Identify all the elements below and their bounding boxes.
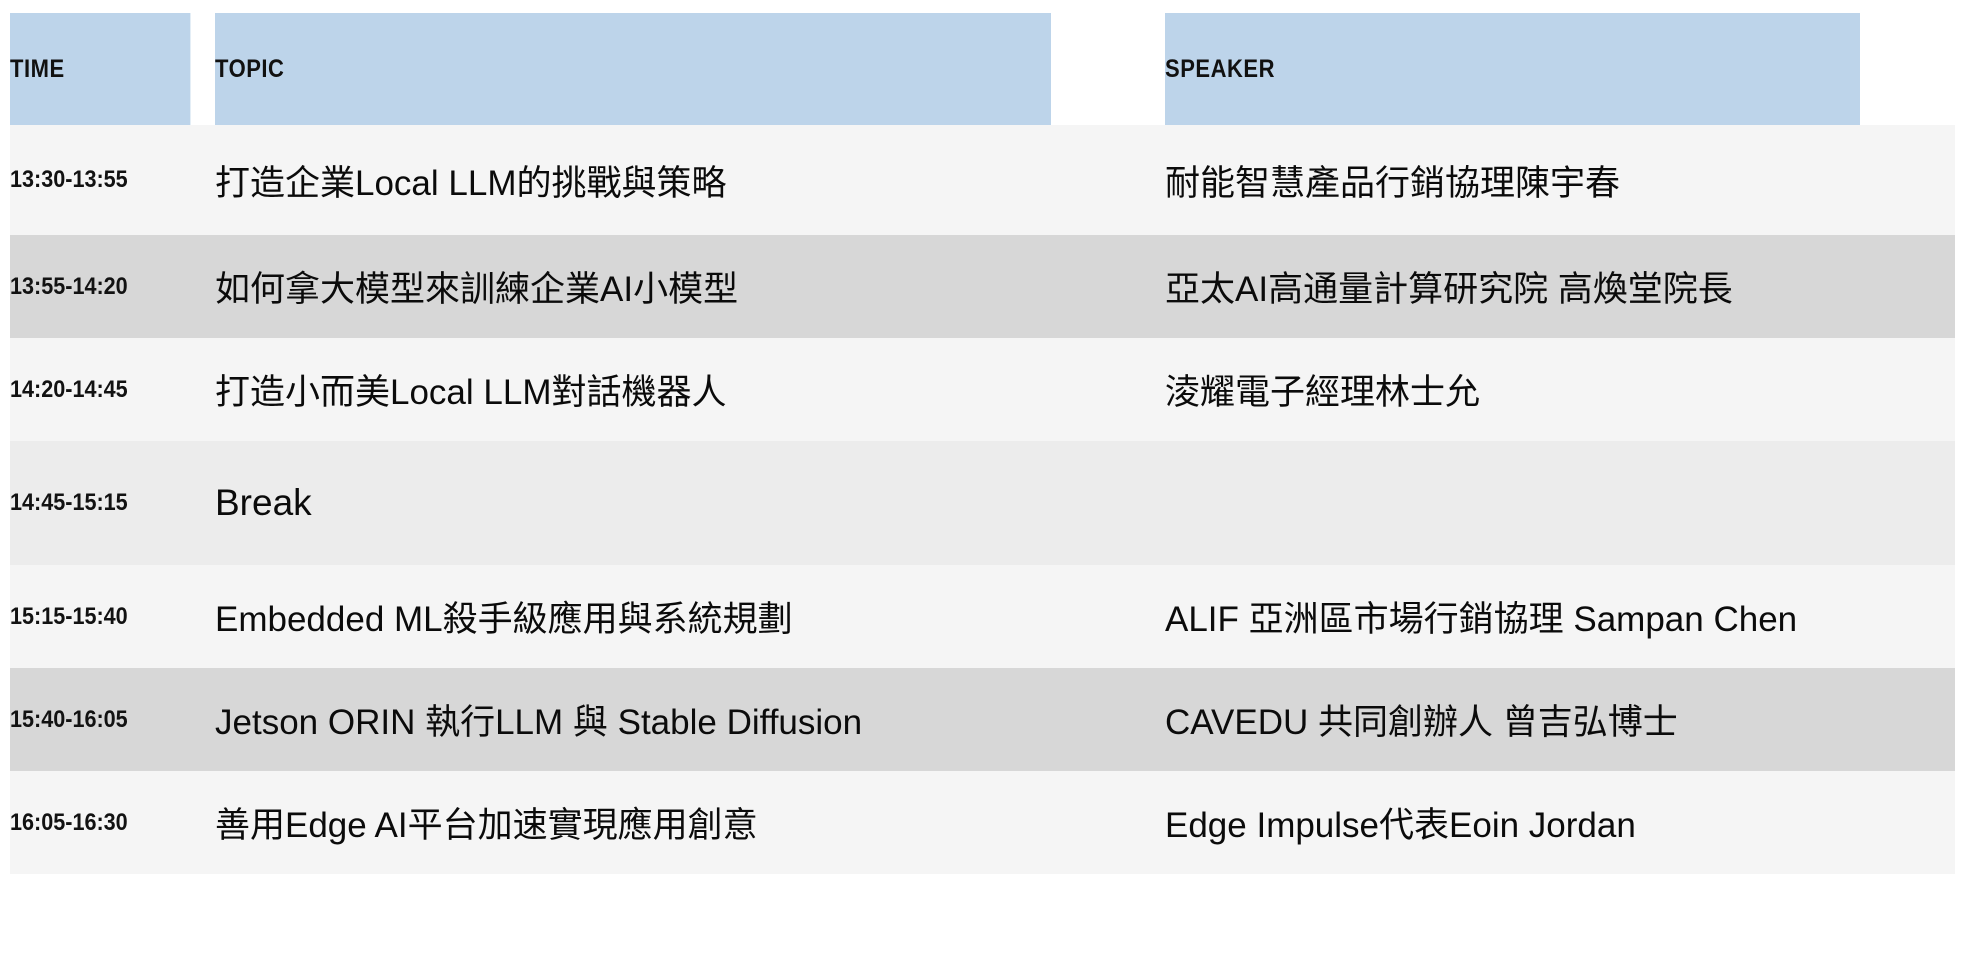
cell-speaker: Edge Impulse代表Eoin Jordan: [1165, 771, 1955, 874]
column-header-speaker: SPEAKER: [1165, 13, 1860, 125]
cell-topic: 如何拿大模型來訓練企業AI小模型: [215, 235, 1165, 338]
cell-time: 13:55-14:20: [10, 235, 195, 338]
cell-time: 13:30-13:55: [10, 125, 195, 235]
table-row: 13:55-14:20 如何拿大模型來訓練企業AI小模型 亞太AI高通量計算研究…: [10, 235, 1955, 338]
column-header-topic: TOPIC: [215, 13, 1051, 125]
table-body: 13:30-13:55 打造企業Local LLM的挑戰與策略 耐能智慧產品行銷…: [10, 125, 1955, 874]
table-row: 14:20-14:45 打造小而美Local LLM對話機器人 淩耀電子經理林士…: [10, 338, 1955, 441]
cell-speaker: ALIF 亞洲區市場行銷協理 Sampan Chen: [1165, 565, 1955, 668]
cell-topic: Jetson ORIN 執行LLM 與 Stable Diffusion: [215, 668, 1165, 771]
column-header-time: TIME: [10, 13, 190, 125]
table-header-row: TIME TOPIC SPEAKER: [10, 13, 1955, 125]
table-row: 15:15-15:40 Embedded ML殺手級應用與系統規劃 ALIF 亞…: [10, 565, 1955, 668]
cell-time: 15:15-15:40: [10, 565, 195, 668]
cell-speaker: 耐能智慧產品行銷協理陳宇春: [1165, 125, 1955, 235]
cell-time: 14:20-14:45: [10, 338, 195, 441]
cell-speaker: 淩耀電子經理林士允: [1165, 338, 1955, 441]
agenda-schedule-table: TIME TOPIC SPEAKER 13:30-13:55 打造企業Local…: [10, 13, 1955, 874]
cell-speaker: 亞太AI高通量計算研究院 高煥堂院長: [1165, 235, 1955, 338]
cell-topic: 善用Edge AI平台加速實現應用創意: [215, 771, 1165, 874]
table-row-break: 14:45-15:15 Break: [10, 441, 1955, 565]
table-header: TIME TOPIC SPEAKER: [10, 13, 1955, 125]
cell-speaker: CAVEDU 共同創辦人 曾吉弘博士: [1165, 668, 1955, 771]
cell-time: 14:45-15:15: [10, 441, 195, 565]
cell-time: 16:05-16:30: [10, 771, 195, 874]
cell-time: 15:40-16:05: [10, 668, 195, 771]
cell-break-label: Break: [215, 441, 1955, 565]
table-row: 13:30-13:55 打造企業Local LLM的挑戰與策略 耐能智慧產品行銷…: [10, 125, 1955, 235]
cell-topic: Embedded ML殺手級應用與系統規劃: [215, 565, 1165, 668]
cell-topic: 打造小而美Local LLM對話機器人: [215, 338, 1165, 441]
table-row: 15:40-16:05 Jetson ORIN 執行LLM 與 Stable D…: [10, 668, 1955, 771]
cell-topic: 打造企業Local LLM的挑戰與策略: [215, 125, 1165, 235]
table-row: 16:05-16:30 善用Edge AI平台加速實現應用創意 Edge Imp…: [10, 771, 1955, 874]
